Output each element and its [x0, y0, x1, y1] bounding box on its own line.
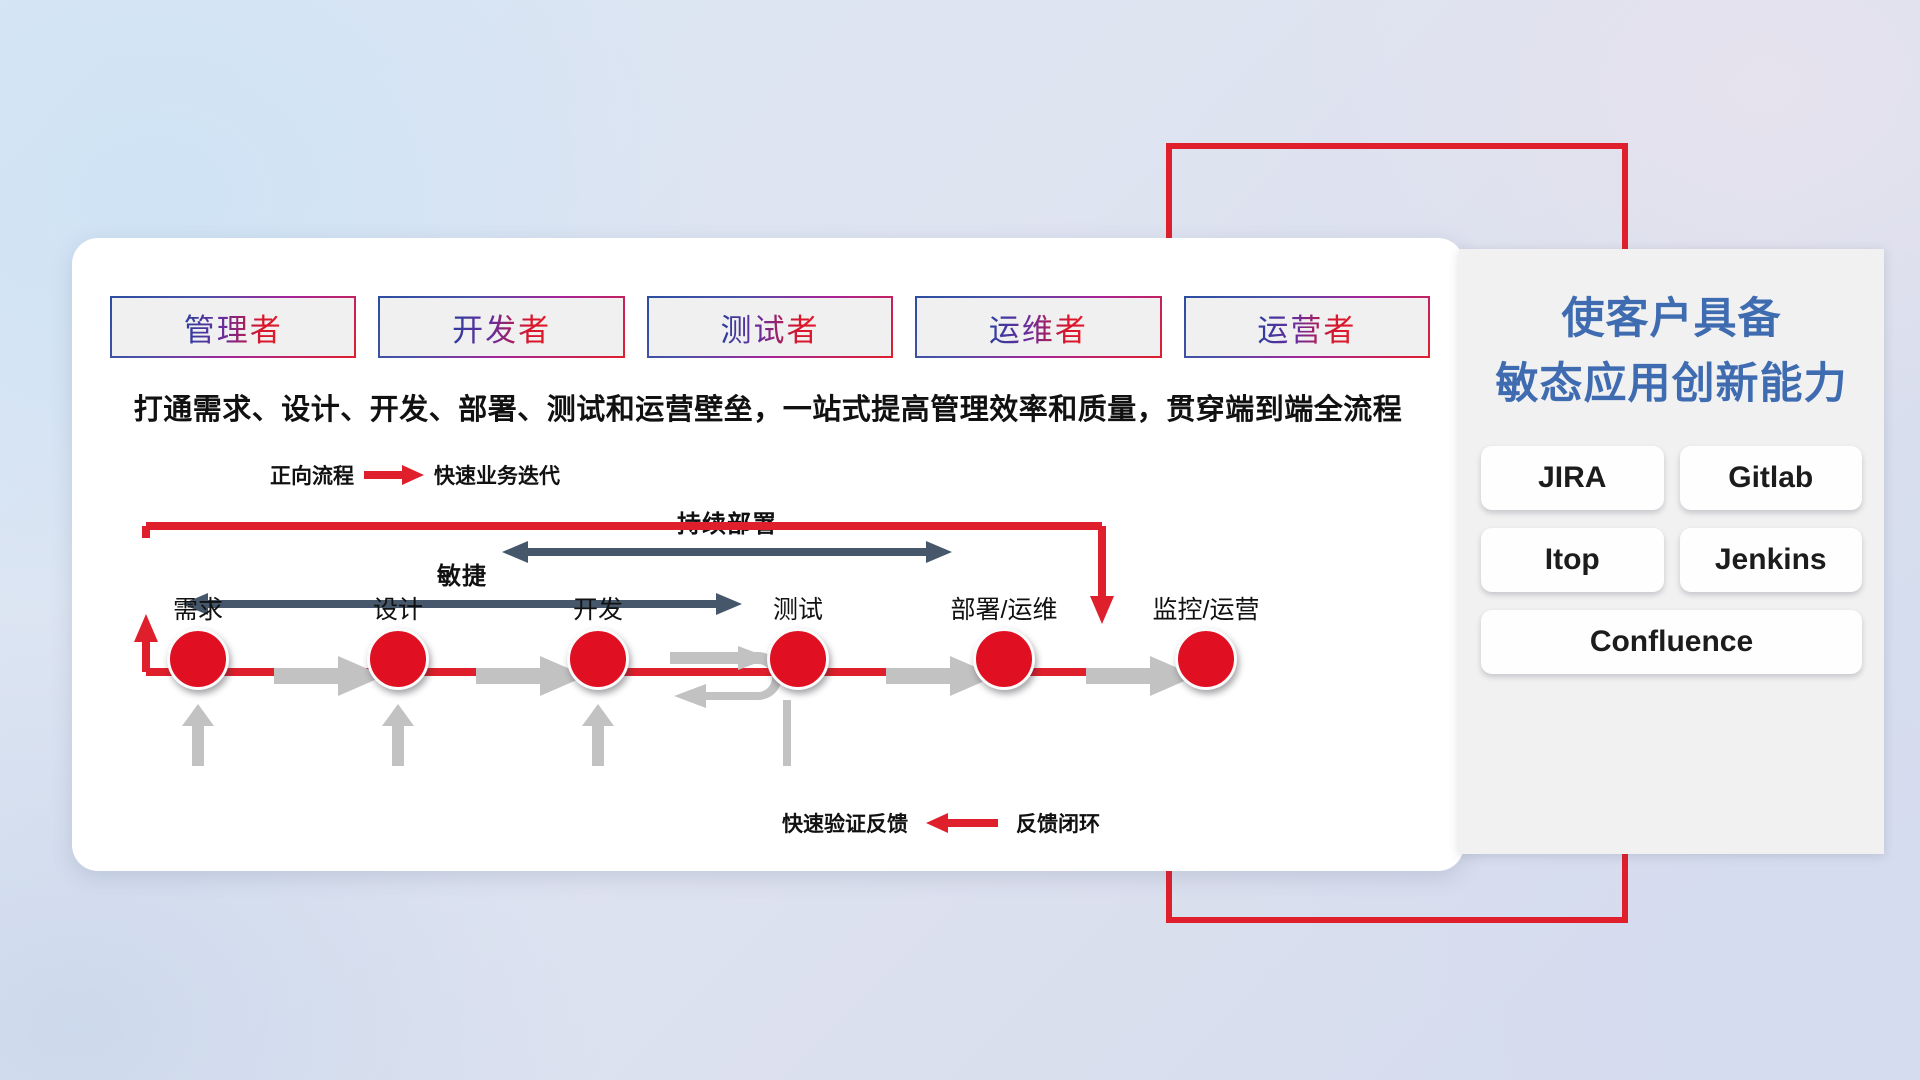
tools-headline-line-2: 敏态应用创新能力: [1459, 352, 1884, 417]
stage-label: 设计: [328, 590, 468, 626]
stage-dot: [1175, 628, 1237, 690]
role-label: 运营者: [1257, 305, 1356, 350]
role-label: 开发者: [452, 305, 551, 350]
pipeline-stage-monitor-operations[interactable]: 监控/运营: [1136, 590, 1276, 690]
stage-dot: [367, 628, 429, 690]
slide-canvas: 使客户具备 敏态应用创新能力 JIRA Gitlab Itop Jenkins …: [0, 0, 1920, 1080]
riser-arrow-test-icon: [580, 704, 616, 766]
tool-tile-confluence[interactable]: Confluence: [1481, 610, 1862, 674]
stage-dot: [567, 628, 629, 690]
arrow-left-red-icon: [926, 813, 998, 833]
riser-arrow-dev-icon: [380, 704, 416, 766]
role-box-tester[interactable]: 测试者: [647, 296, 893, 358]
stage-label: 部署/运维: [934, 590, 1074, 626]
main-diagram-card: 管理者 开发者 测试者 运维者 运营者 打通需求、设计、开发、部署、测试和运营壁…: [72, 238, 1464, 871]
legend-feedback-result: 快速验证反馈: [782, 808, 908, 838]
pipeline-stage-deploy-ops[interactable]: 部署/运维: [934, 590, 1074, 690]
role-box-ops[interactable]: 运维者: [915, 296, 1161, 358]
pipeline-row: 需求 设计 开发 测试 部署/运维 监控/运营: [126, 590, 1416, 750]
role-box-operations[interactable]: 运营者: [1184, 296, 1430, 358]
legend-forward-flow: 正向流程 快速业务迭代: [270, 460, 560, 490]
tools-grid: JIRA Gitlab Itop Jenkins Confluence: [1481, 446, 1862, 674]
legend-feedback-source: 反馈闭环: [1016, 808, 1100, 838]
role-box-row: 管理者 开发者 测试者 运维者 运营者: [110, 296, 1430, 358]
tool-tile-gitlab[interactable]: Gitlab: [1680, 446, 1863, 510]
pipeline-stage-development[interactable]: 开发: [528, 590, 668, 690]
pipeline-stage-design[interactable]: 设计: [328, 590, 468, 690]
stage-label: 监控/运营: [1136, 590, 1276, 626]
riser-arrow-design-icon: [180, 704, 216, 766]
stage-dot: [973, 628, 1035, 690]
legend-forward-target: 快速业务迭代: [434, 460, 560, 490]
arrow-right-red-icon: [364, 465, 424, 485]
role-box-manager[interactable]: 管理者: [110, 296, 356, 358]
span-label-agile: 敏捷: [182, 556, 742, 591]
stage-label: 需求: [128, 590, 268, 626]
stage-dot: [167, 628, 229, 690]
riser-stem-verify-icon: [780, 700, 794, 766]
tools-panel: 使客户具备 敏态应用创新能力 JIRA Gitlab Itop Jenkins …: [1459, 249, 1884, 854]
tool-tile-jira[interactable]: JIRA: [1481, 446, 1664, 510]
tools-panel-headline: 使客户具备 敏态应用创新能力: [1459, 287, 1884, 416]
tool-tile-itop[interactable]: Itop: [1481, 528, 1664, 592]
stage-label: 开发: [528, 590, 668, 626]
role-label: 运维者: [989, 305, 1088, 350]
pipeline-stage-testing[interactable]: 测试: [728, 590, 868, 690]
description-text: 打通需求、设计、开发、部署、测试和运营壁垒，一站式提高管理效率和质量，贯穿端到端…: [72, 386, 1464, 428]
tools-headline-line-1: 使客户具备: [1459, 287, 1884, 352]
stage-label: 测试: [728, 590, 868, 626]
role-box-developer[interactable]: 开发者: [378, 296, 624, 358]
role-label: 测试者: [721, 305, 820, 350]
span-label-continuous-deployment: 持续部署: [502, 504, 952, 539]
tool-tile-jenkins[interactable]: Jenkins: [1680, 528, 1863, 592]
legend-feedback-loop: 快速验证反馈 反馈闭环: [782, 808, 1100, 838]
pipeline-stage-requirement[interactable]: 需求: [128, 590, 268, 690]
stage-dot: [767, 628, 829, 690]
legend-forward-source: 正向流程: [270, 460, 354, 490]
role-label: 管理者: [184, 305, 283, 350]
